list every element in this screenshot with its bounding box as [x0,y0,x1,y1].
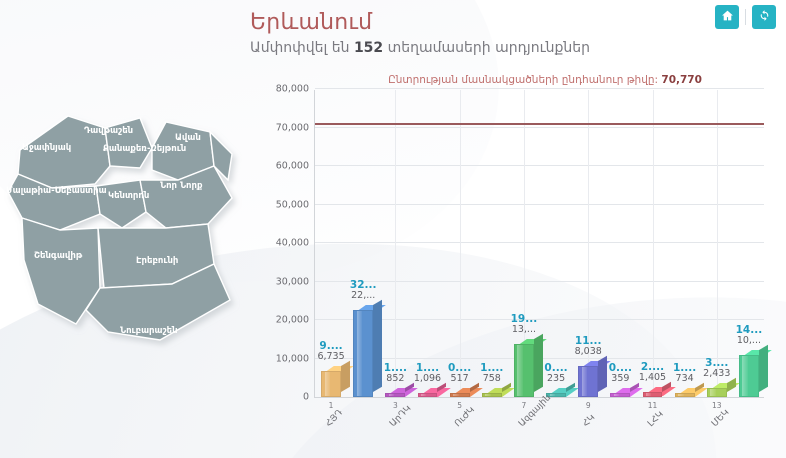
yerevan-district-map[interactable]: Աջափնյակ Դավթաշեն Ավան Քանաքեռ-Զեյթուն Մ… [0,88,250,378]
bar-side-face [373,300,382,392]
bar-label: 1....734 [673,362,696,385]
bar-front-face [675,393,695,397]
bar-gloss [517,345,522,396]
bar-front-face [321,371,341,397]
chart-bar[interactable]: 1....734 [675,393,695,397]
bar-gloss [485,394,490,396]
map-svg: Աջափնյակ Դավթաշեն Ավան Քանաքեռ-Զեյթուն Մ… [0,88,250,378]
bar-label: 2....1,405 [639,361,666,384]
x-axis-tick-label: 7 [522,401,527,410]
x-axis-category-label: Ազգային [517,393,553,429]
bar-value-label: 235 [544,374,567,385]
x-axis-category-label: ՄԵԿ [710,408,731,429]
bar-gloss [710,389,715,396]
district-shape-kentron [96,180,146,228]
x-axis-category-label: ԼՀԿ [646,409,666,429]
bar-label: 1....1,096 [414,362,441,385]
y-axis-tick-label: 0 [303,392,309,403]
bar-gloss [357,311,362,396]
chart-bar[interactable]: 0....359 [610,393,630,397]
annotation-text: Ընտրության մասնակցածների ընդհանուր թիվը: [388,74,661,86]
chart-bar[interactable]: 1....852 [385,393,405,397]
y-axis-tick-label: 20,000 [276,315,309,326]
chart-bar[interactable]: 11...8,038 [578,366,598,397]
y-axis-tick-label: 10,000 [276,353,309,364]
subtitle-prefix: Ամփոփվել են [250,40,354,56]
bar-label: 32...22,... [350,279,377,302]
bar-front-face [643,392,663,397]
bar-value-label: 359 [609,374,632,385]
bar-front-face [482,393,502,397]
bar-label: 0....235 [544,362,567,385]
chart-plot-area: 010,00020,00030,00040,00050,00060,00070,… [314,90,764,398]
bar-value-label: 10,... [736,336,763,347]
subtitle-suffix: տեղամասերի արդյունքներ [383,40,590,56]
bar-gloss [678,394,683,396]
bar-label: 3....2,433 [703,357,730,380]
bar-gloss [389,394,394,396]
y-axis-tick-label: 30,000 [276,276,309,287]
x-axis-category-label: ՀԿ [581,413,597,429]
bar-side-face [598,356,607,392]
bar-gloss [453,394,458,396]
home-icon [721,9,734,25]
x-axis-category-label: ՈւԺԿ [453,405,477,429]
x-axis-tick-label: 11 [648,401,658,410]
chart-bar[interactable]: 19...13,... [514,344,534,397]
gridline [315,88,764,89]
chart-bar[interactable]: 9....6,735 [321,371,341,397]
bar-label: 11...8,038 [575,335,602,358]
bar-value-label: 8,038 [575,347,602,358]
header: Երևանում Ամփոփվել են 152 տեղամասերի արդյ… [250,10,590,57]
bar-value-label: 734 [673,374,696,385]
x-axis-category-label: ՀՅԴ [324,408,345,429]
toolbar [715,5,776,29]
refresh-button[interactable] [752,5,776,29]
bar-gloss [742,356,747,396]
y-axis-tick-label: 70,000 [276,122,309,133]
x-axis-tick-label: 3 [393,401,398,410]
bar-label: 14...10,... [736,324,763,347]
bar-label: 1....758 [480,362,503,385]
toolbar-divider [745,9,746,25]
bar-gloss [582,367,587,396]
refresh-icon [758,9,771,25]
bar-value-label: 517 [448,374,471,385]
bar-label: 1....852 [384,362,407,385]
bar-gloss [421,394,426,396]
bar-value-label: 13,... [511,325,538,336]
bar-gloss [325,372,330,396]
x-axis-tick-label: 5 [457,401,462,410]
bar-front-face [450,393,470,397]
bar-value-label: 6,735 [317,352,344,363]
bar-front-face [385,393,405,397]
chart-bar[interactable]: 1....1,096 [418,393,438,397]
bar-label: 0....517 [448,362,471,385]
chart-bar[interactable]: 1....758 [482,393,502,397]
y-axis-tick-label: 60,000 [276,161,309,172]
election-results-chart[interactable]: Ընտրության մասնակցածների ընդհանուր թիվը:… [250,74,786,458]
chart-bar[interactable]: 0....517 [450,393,470,397]
bar-value-label: 22,... [350,291,377,302]
bar-gloss [646,393,651,396]
district-shape-ajapnyak [18,116,110,188]
y-axis-tick-label: 80,000 [276,84,309,95]
chart-bars: 9....6,73532...22,...1....8521....1,0960… [315,90,764,397]
district-shape-davtashen [105,118,152,168]
chart-bar[interactable]: 32...22,... [353,310,373,397]
home-button[interactable] [715,5,739,29]
x-axis-tick-label: 9 [586,401,591,410]
bar-value-label: 852 [384,374,407,385]
page-subtitle: Ամփոփվել են 152 տեղամասերի արդյունքներ [250,40,590,57]
y-axis-tick-label: 40,000 [276,238,309,249]
bar-value-label: 2,433 [703,369,730,380]
x-axis-tick-label: 1 [329,401,334,410]
y-axis-tick-label: 50,000 [276,199,309,210]
chart-annotation: Ընտրության մասնակցածների ընդհանուր թիվը:… [310,74,780,86]
bar-gloss [550,394,555,396]
x-axis-tick-label: 13 [712,401,722,410]
bar-side-face [534,334,543,392]
bar-front-face [610,393,630,397]
bar-side-face [759,345,768,392]
bar-label: 0....359 [609,362,632,385]
bar-label: 19...13,... [511,313,538,336]
bar-front-face [739,355,759,397]
bar-front-face [707,388,727,397]
bar-side-face [341,361,350,392]
bar-front-face [353,310,373,397]
chart-bar[interactable]: 14...10,... [739,355,759,397]
page-title: Երևանում [250,10,590,35]
bar-label: 9....6,735 [317,340,344,363]
bar-front-face [514,344,534,397]
bar-value-label: 1,096 [414,374,441,385]
subtitle-count: 152 [354,40,383,56]
annotation-value: 70,770 [661,74,702,86]
bar-value-label: 758 [480,374,503,385]
bar-value-label: 1,405 [639,373,666,384]
bar-front-face [418,393,438,397]
bar-front-face [578,366,598,397]
chart-bar[interactable]: 2....1,405 [643,392,663,397]
chart-bar[interactable]: 3....2,433 [707,388,727,397]
bar-gloss [614,394,619,396]
